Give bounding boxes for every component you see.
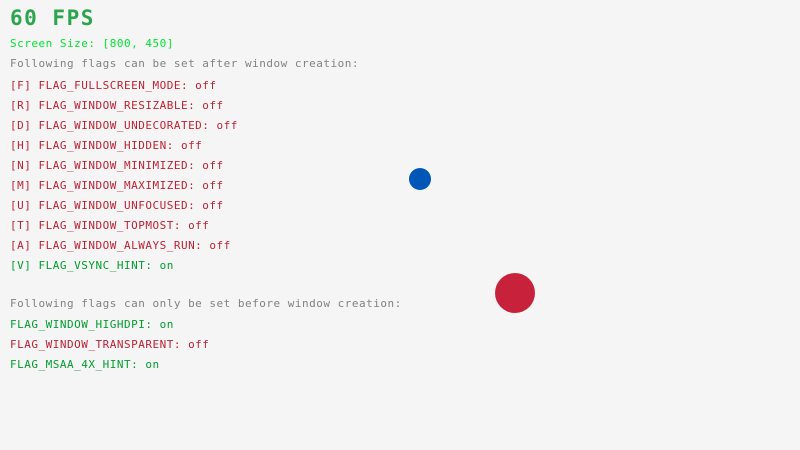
flag-row-flag-window-maximized[interactable]: [M] FLAG_WINDOW_MAXIMIZED: off xyxy=(10,180,224,191)
flag-row-flag-window-hidden[interactable]: [H] FLAG_WINDOW_HIDDEN: off xyxy=(10,140,202,151)
raylib-window-canvas[interactable]: 60 FPS Screen Size: [800, 450] Following… xyxy=(0,0,800,450)
flag-row-flag-window-resizable[interactable]: [R] FLAG_WINDOW_RESIZABLE: off xyxy=(10,100,224,111)
red-ball xyxy=(495,273,535,313)
flag-row-flag-window-always-run[interactable]: [A] FLAG_WINDOW_ALWAYS_RUN: off xyxy=(10,240,231,251)
flag-row-flag-window-highdpi: FLAG_WINDOW_HIGHDPI: on xyxy=(10,319,174,330)
flag-row-flag-msaa-4x-hint: FLAG_MSAA_4X_HINT: on xyxy=(10,359,160,370)
flag-row-flag-fullscreen-mode[interactable]: [F] FLAG_FULLSCREEN_MODE: off xyxy=(10,80,217,91)
flag-row-flag-window-transparent: FLAG_WINDOW_TRANSPARENT: off xyxy=(10,339,209,350)
flag-row-flag-window-topmost[interactable]: [T] FLAG_WINDOW_TOPMOST: off xyxy=(10,220,209,231)
runtime-flags-heading: Following flags can be set after window … xyxy=(10,58,359,69)
screen-size-label: Screen Size: [800, 450] xyxy=(10,38,174,49)
flag-row-flag-window-undecorated[interactable]: [D] FLAG_WINDOW_UNDECORATED: off xyxy=(10,120,238,131)
creation-flags-heading: Following flags can only be set before w… xyxy=(10,298,402,309)
fps-counter: 60 FPS xyxy=(10,8,95,29)
flag-row-flag-window-unfocused[interactable]: [U] FLAG_WINDOW_UNFOCUSED: off xyxy=(10,200,224,211)
flag-row-flag-vsync-hint[interactable]: [V] FLAG_VSYNC_HINT: on xyxy=(10,260,174,271)
flag-row-flag-window-minimized[interactable]: [N] FLAG_WINDOW_MINIMIZED: off xyxy=(10,160,224,171)
blue-ball xyxy=(409,168,431,190)
